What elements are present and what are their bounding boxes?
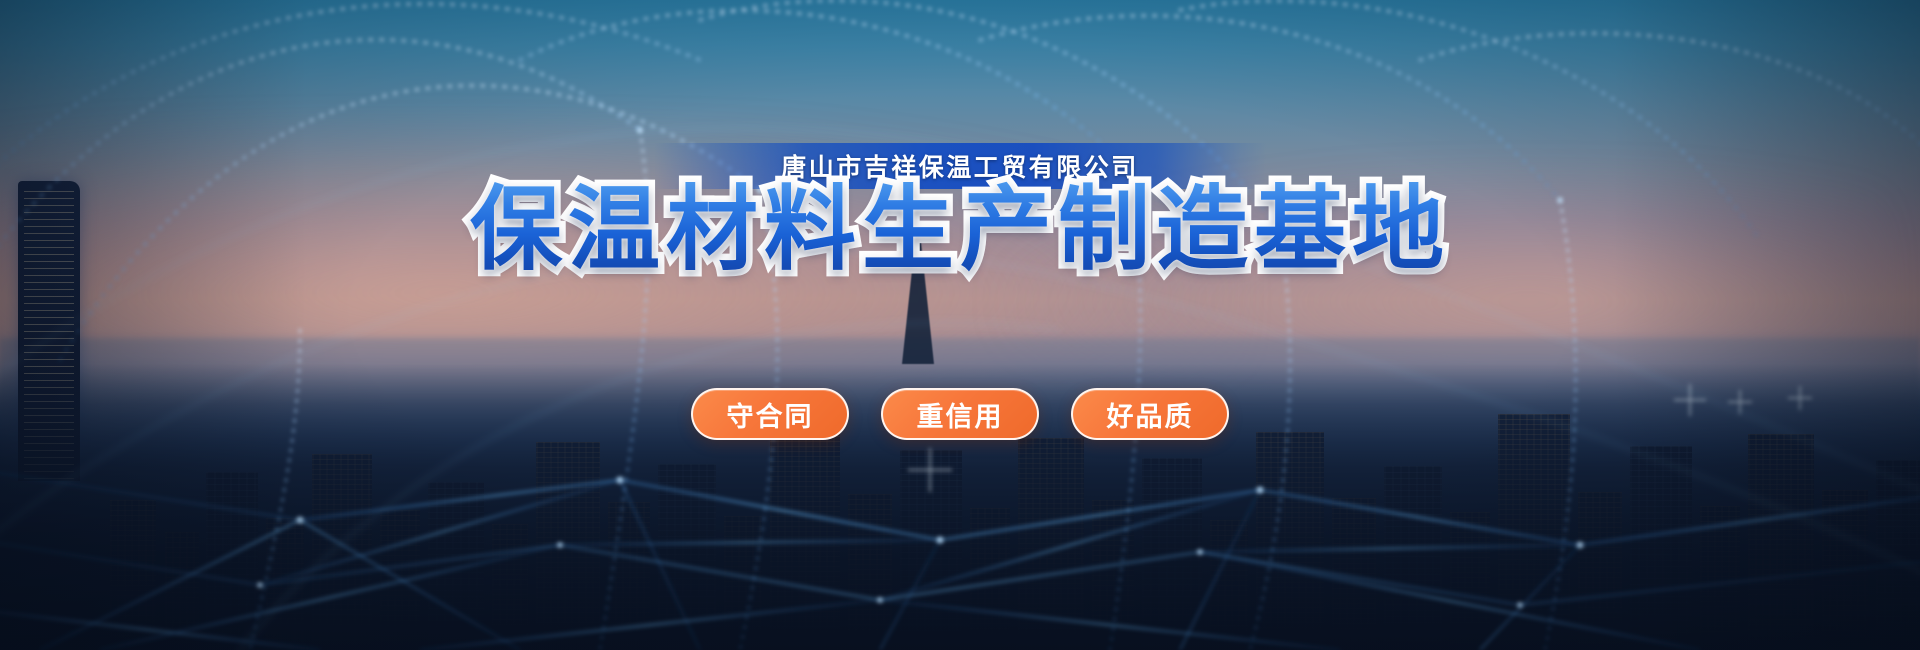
banner-content: 唐山市吉祥保温工贸有限公司 保温材料生产制造基地 保温材料生产制造基地 守合同 … xyxy=(0,0,1920,650)
badge-row: 守合同 重信用 好品质 xyxy=(0,388,1920,440)
hero-banner: 唐山市吉祥保温工贸有限公司 保温材料生产制造基地 保温材料生产制造基地 守合同 … xyxy=(0,0,1920,650)
badge-hao-pin-zhi[interactable]: 好品质 xyxy=(1071,388,1229,440)
headline-text: 保温材料生产制造基地 xyxy=(470,179,1450,281)
badge-label: 守合同 xyxy=(727,395,814,434)
headline: 保温材料生产制造基地 保温材料生产制造基地 xyxy=(470,176,1450,285)
headline-wrap: 保温材料生产制造基地 保温材料生产制造基地 xyxy=(0,176,1920,285)
badge-shou-he-tong[interactable]: 守合同 xyxy=(691,388,849,440)
badge-label: 重信用 xyxy=(917,395,1004,434)
badge-zhong-xin-yong[interactable]: 重信用 xyxy=(881,388,1039,440)
badge-label: 好品质 xyxy=(1107,395,1194,434)
